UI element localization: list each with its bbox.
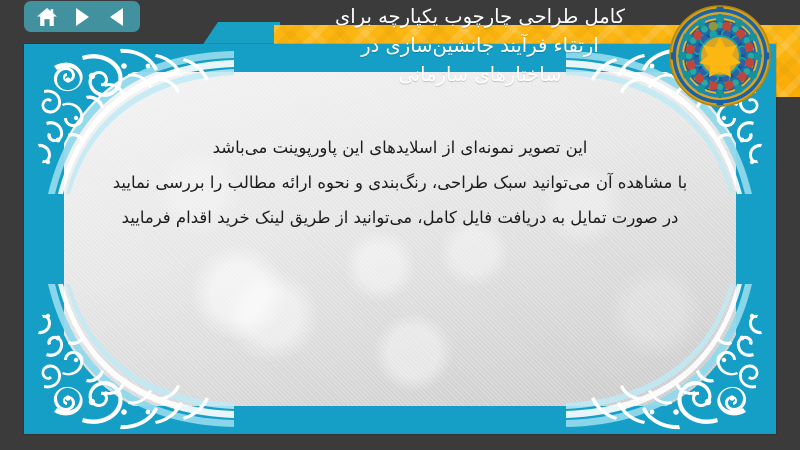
slide-canvas: کامل طراحی چارچوب یکپارچه برای ارتقاء فر… bbox=[0, 0, 800, 450]
forward-button[interactable] bbox=[68, 4, 96, 30]
body-line-3: در صورت تمایل به دریافت فایل کامل، می‌تو… bbox=[64, 200, 736, 235]
home-button[interactable] bbox=[33, 4, 61, 30]
persian-medallion-icon bbox=[668, 4, 772, 108]
body-line-1: این تصویر نمونه‌ای از اسلایدهای این پاور… bbox=[64, 130, 736, 165]
back-icon bbox=[110, 8, 123, 26]
body-line-2: با مشاهده آن می‌توانید سبک طراحی، رنگ‌بن… bbox=[64, 165, 736, 200]
back-button[interactable] bbox=[103, 4, 131, 30]
content-board bbox=[24, 44, 776, 434]
content-surface bbox=[64, 72, 736, 406]
home-icon bbox=[36, 7, 58, 27]
navigation-controls[interactable] bbox=[24, 1, 140, 32]
forward-icon bbox=[76, 8, 89, 26]
slide-body: این تصویر نمونه‌ای از اسلایدهای این پاور… bbox=[64, 130, 736, 235]
